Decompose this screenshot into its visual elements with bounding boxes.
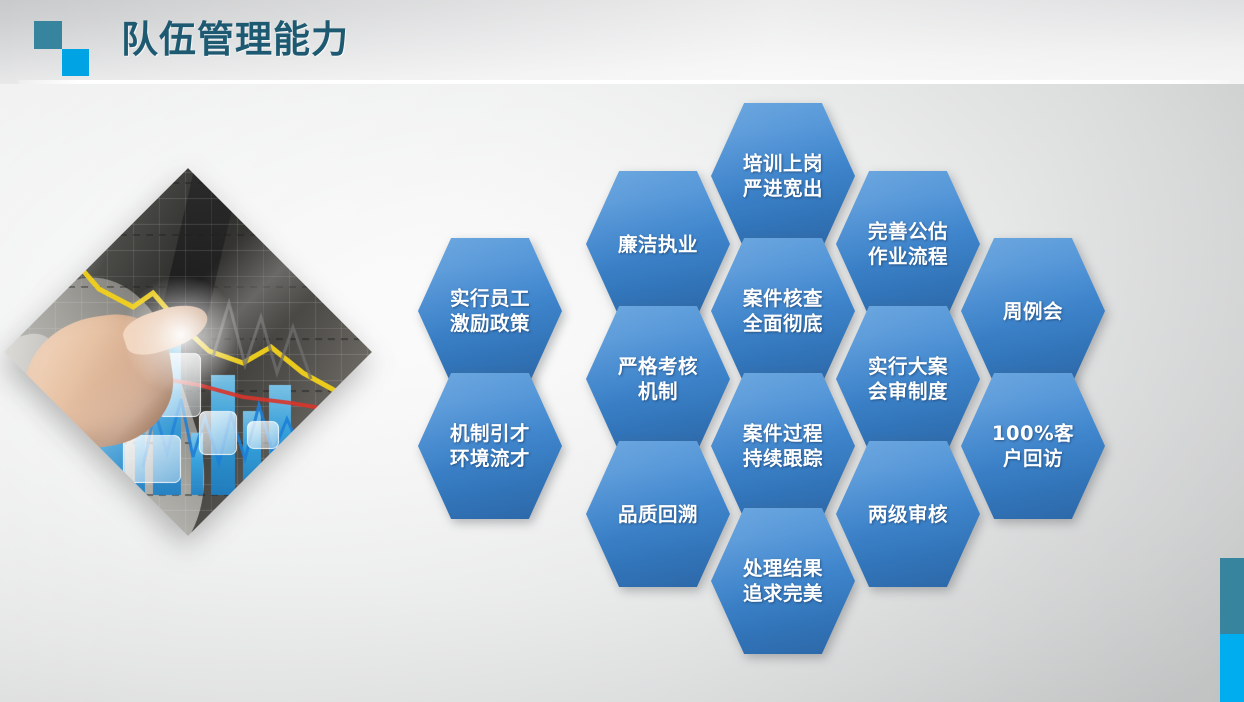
hexagon-label: 严格考核 机制 <box>586 306 730 452</box>
hexagon-label: 实行员工 激励政策 <box>418 238 562 384</box>
header-divider <box>18 80 1230 84</box>
page-title: 队伍管理能力 <box>121 14 349 66</box>
hexagon-label: 两级审核 <box>836 441 980 587</box>
hexagon-label: 案件核查 全面彻底 <box>711 238 855 384</box>
hexagon-cell[interactable]: 案件核查 全面彻底 <box>711 238 855 384</box>
hexagon-label: 周例会 <box>961 238 1105 384</box>
hexagon-cell[interactable]: 实行大案 会审制度 <box>836 306 980 452</box>
hexagon-cell[interactable]: 培训上岗 严进宽出 <box>711 103 855 249</box>
teal-square-icon <box>34 21 62 49</box>
hexagon-cell[interactable]: 机制引才 环境流才 <box>418 373 562 519</box>
hexagon-cell[interactable]: 实行员工 激励政策 <box>418 238 562 384</box>
hexagon-cell[interactable]: 两级审核 <box>836 441 980 587</box>
hexagon-label: 机制引才 环境流才 <box>418 373 562 519</box>
cyan-square-icon <box>62 49 89 76</box>
hexagon-label: 完善公估 作业流程 <box>836 171 980 317</box>
hexagon-label: 100%客 户回访 <box>961 373 1105 519</box>
hexagon-label: 品质回溯 <box>586 441 730 587</box>
hexagon-label: 处理结果 追求完美 <box>711 508 855 654</box>
hexagon-cell[interactable]: 100%客 户回访 <box>961 373 1105 519</box>
hexagon-cell[interactable]: 严格考核 机制 <box>586 306 730 452</box>
accent-block-teal <box>1220 558 1244 634</box>
slide-canvas: 队伍管理能力 <box>0 0 1244 702</box>
hexagon-cell[interactable]: 廉洁执业 <box>586 171 730 317</box>
hexagon-cell[interactable]: 品质回溯 <box>586 441 730 587</box>
hexagon-label: 实行大案 会审制度 <box>836 306 980 452</box>
hexagon-label: 案件过程 持续跟踪 <box>711 373 855 519</box>
hexagon-cell[interactable]: 周例会 <box>961 238 1105 384</box>
accent-block-cyan <box>1220 634 1244 702</box>
hexagon-cell[interactable]: 案件过程 持续跟踪 <box>711 373 855 519</box>
hexagon-label: 培训上岗 严进宽出 <box>711 103 855 249</box>
hexagon-cell[interactable]: 处理结果 追求完美 <box>711 508 855 654</box>
hexagon-label: 廉洁执业 <box>586 171 730 317</box>
hexagon-cell[interactable]: 完善公估 作业流程 <box>836 171 980 317</box>
